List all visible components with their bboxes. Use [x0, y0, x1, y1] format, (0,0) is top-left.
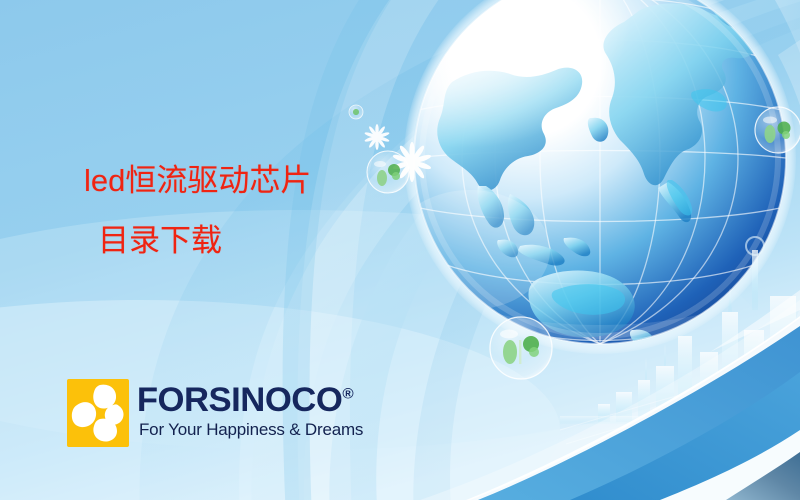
logo-wordmark: FORSINOCO®	[137, 383, 353, 417]
logo-wordmark-text: FORSINOCO	[137, 381, 342, 419]
headline-line-1: led恒流驱动芯片	[84, 165, 504, 196]
bubble-green-sprout-bottom	[490, 317, 552, 379]
four-petal-pinwheel-icon	[67, 379, 129, 447]
logo-tagline: For Your Happiness & Dreams	[139, 420, 363, 440]
logo-text-block: FORSINOCO® For Your Happiness & Dreams	[139, 379, 363, 440]
bubble-green-sprout-right	[755, 107, 800, 153]
bubble-small-top	[349, 105, 363, 119]
registered-trademark-icon: ®	[342, 386, 353, 403]
headline: led恒流驱动芯片 目录下载	[84, 165, 504, 256]
company-logo[interactable]: FORSINOCO® For Your Happiness & Dreams	[67, 379, 363, 447]
promo-banner: led恒流驱动芯片 目录下载 FORSINOCO® For Your Happ	[0, 0, 800, 500]
headline-line-2: 目录下载	[98, 225, 504, 256]
